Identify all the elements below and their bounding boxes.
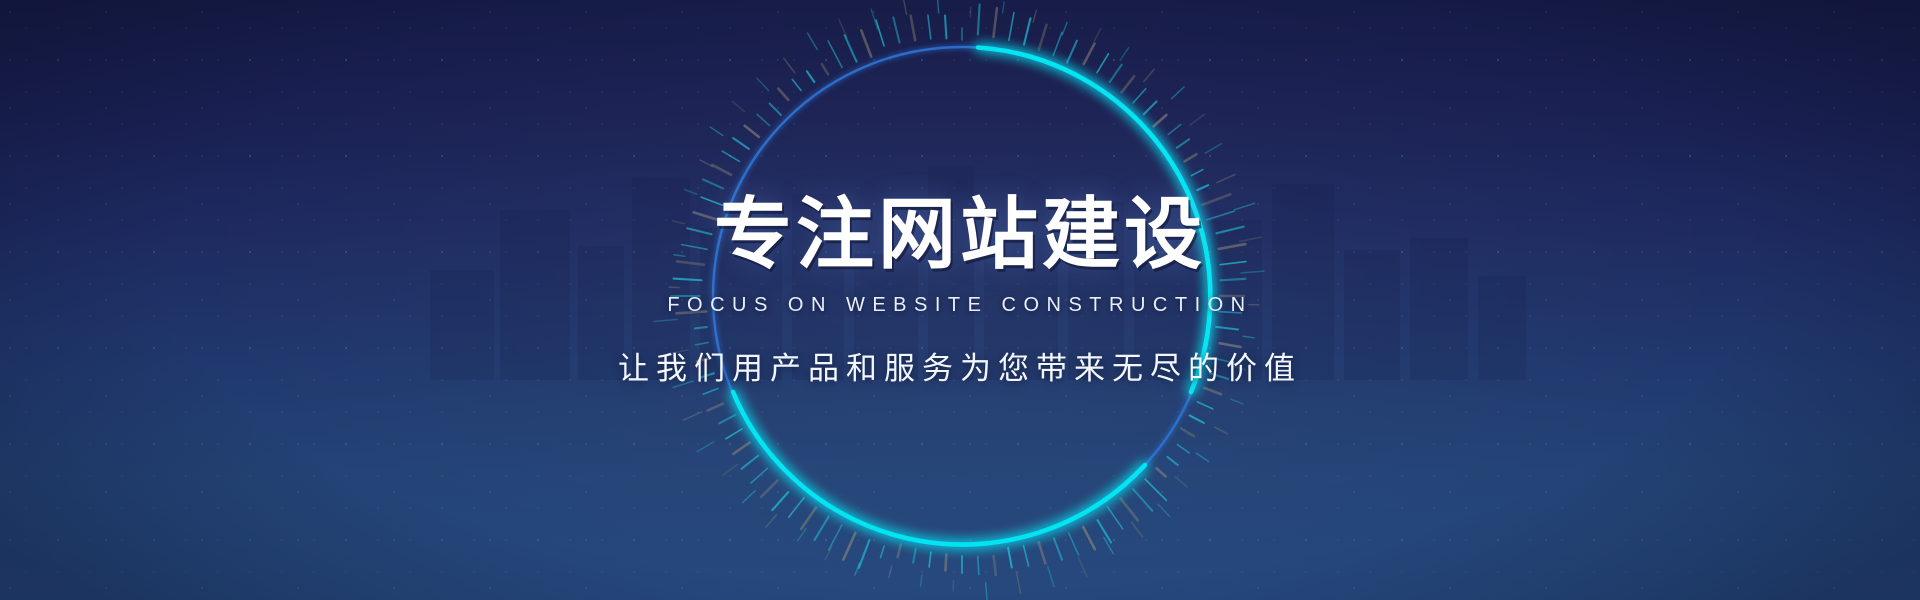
hero-content: 专注网站建设 FOCUS ON WEBSITE CONSTRUCTION 让我们… xyxy=(0,196,1920,388)
ring-accent-arc-bottom xyxy=(733,392,1145,545)
page-title: 专注网站建设 xyxy=(0,196,1920,276)
subtitle-english: FOCUS ON WEBSITE CONSTRUCTION xyxy=(0,294,1920,317)
hero-banner: 专注网站建设 FOCUS ON WEBSITE CONSTRUCTION 让我们… xyxy=(0,0,1920,600)
tagline-chinese: 让我们用产品和服务为您带来无尽的价值 xyxy=(0,343,1920,388)
